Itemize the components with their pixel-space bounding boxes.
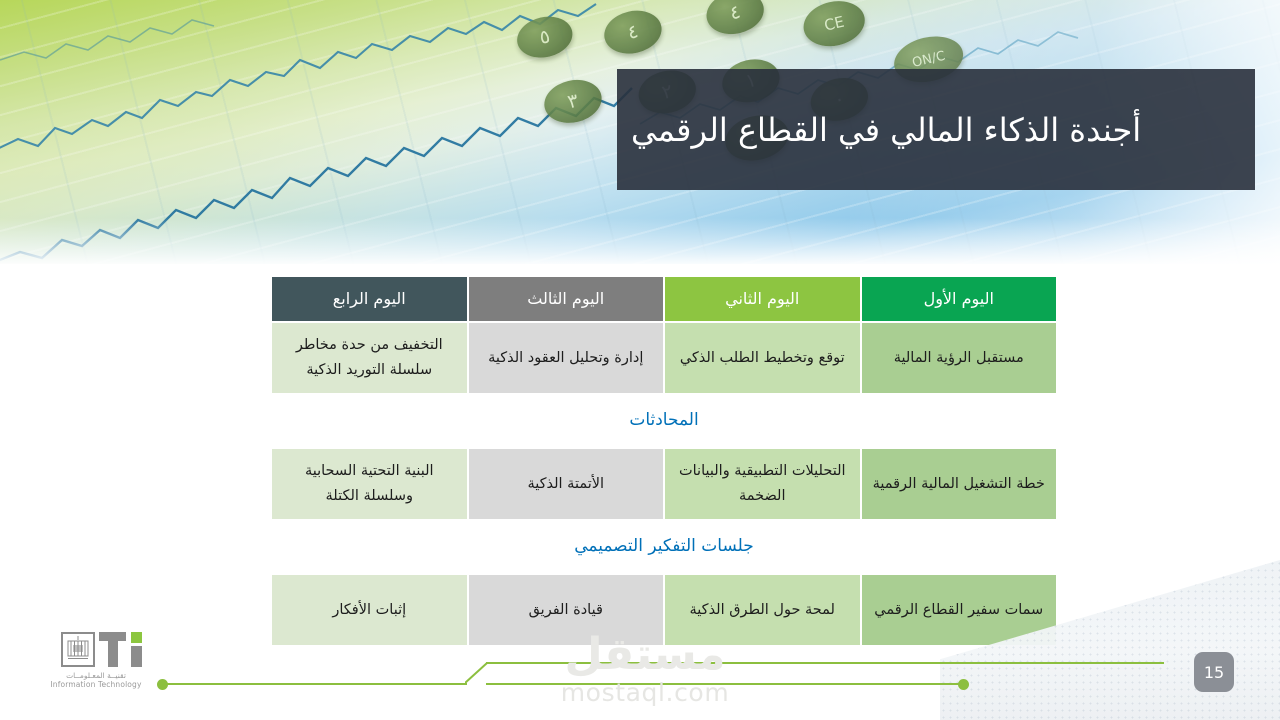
agenda-table: اليوم الأول اليوم الثاني اليوم الثالث ال… — [270, 275, 1058, 647]
table-cell: الأتمتة الذكية — [468, 448, 665, 520]
section-separator-row: المحادثات — [271, 394, 1057, 448]
column-header-day3: اليوم الثالث — [468, 276, 665, 322]
table-row: سمات سفير القطاع الرقمي لمحة حول الطرق ا… — [271, 574, 1057, 646]
rule-line-lower-left — [165, 683, 467, 685]
column-header-day4: اليوم الرابع — [271, 276, 468, 322]
table-cell: التحليلات التطبيقية والبيانات الضخمة — [664, 448, 861, 520]
table-row: مستقبل الرؤية المالية توقع وتخطيط الطلب … — [271, 322, 1057, 394]
page-number-badge: 15 — [1194, 652, 1234, 692]
rule-line-upper-right — [486, 662, 1164, 664]
photo-bottom-fade — [0, 218, 1280, 264]
rule-line-lower-right — [486, 683, 964, 685]
column-header-day2: اليوم الثاني — [664, 276, 861, 322]
section-separator-row: جلسات التفكير التصميمي — [271, 520, 1057, 574]
rule-jog-diagonal — [465, 662, 501, 684]
section-separator-label: جلسات التفكير التصميمي — [271, 520, 1057, 574]
table-cell: قيادة الفريق — [468, 574, 665, 646]
table-cell: التخفيف من حدة مخاطر سلسلة التوريد الذكي… — [271, 322, 468, 394]
table-row: خطة التشغيل المالية الرقمية التحليلات ال… — [271, 448, 1057, 520]
title-plate: أجندة الذكاء المالي في القطاع الرقمي — [617, 69, 1255, 190]
logo-letter-i — [130, 632, 142, 667]
table-cell: لمحة حول الطرق الذكية — [664, 574, 861, 646]
it-department-logo: تقنيــة المعـلومــات Information Technol… — [50, 632, 142, 690]
page-title: أجندة الذكاء المالي في القطاع الرقمي — [631, 110, 1141, 150]
logo-t-stem — [108, 641, 118, 667]
logo-arabic-label: تقنيــة المعـلومــات — [50, 671, 142, 680]
logo-t-bar — [99, 632, 126, 641]
table-cell: إثبات الأفكار — [271, 574, 468, 646]
logo-letter-t — [99, 632, 126, 667]
column-header-day1: اليوم الأول — [861, 276, 1058, 322]
logo-i-stem — [131, 646, 142, 667]
agenda-table-wrapper: اليوم الأول اليوم الثاني اليوم الثالث ال… — [272, 275, 1058, 647]
rule-dot-right — [958, 679, 969, 690]
university-crest-icon — [61, 632, 95, 667]
slide-canvas: ٣ ٥ ٤ ٢ ٤ ١ ٠٠ ٠ CE ON/C أجندة الذكاء ال… — [0, 0, 1280, 720]
table-cell: توقع وتخطيط الطلب الذكي — [664, 322, 861, 394]
table-cell: خطة التشغيل المالية الرقمية — [861, 448, 1058, 520]
logo-english-label: Information Technology — [50, 680, 142, 689]
table-header-row: اليوم الأول اليوم الثاني اليوم الثالث ال… — [271, 276, 1057, 322]
logo-mark — [50, 632, 142, 668]
table-cell: البنية التحتية السحابية وسلسلة الكتلة — [271, 448, 468, 520]
table-cell: إدارة وتحليل العقود الذكية — [468, 322, 665, 394]
section-separator-label: المحادثات — [271, 394, 1057, 448]
table-cell: مستقبل الرؤية المالية — [861, 322, 1058, 394]
logo-dot-square — [131, 632, 142, 643]
